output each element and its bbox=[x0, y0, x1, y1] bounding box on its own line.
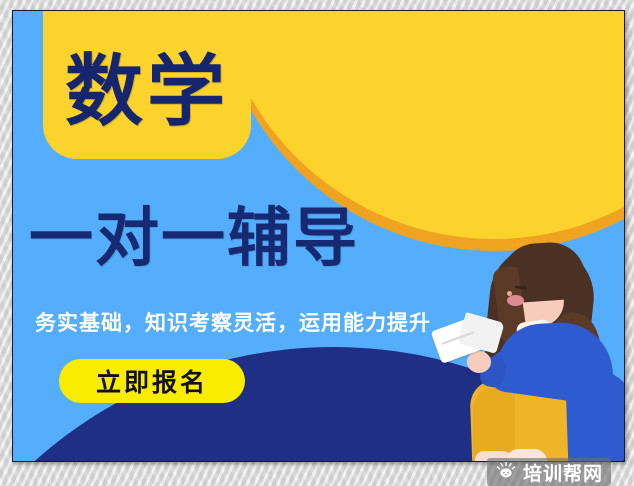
headline-text: 一对一辅导 bbox=[29, 207, 359, 271]
girl-reading-illustration bbox=[431, 239, 625, 462]
promo-banner-card: 数学 一对一辅导 务实基础，知识考察灵活，运用能力提升 立即报名 bbox=[12, 10, 625, 462]
cheek-blush bbox=[507, 295, 524, 306]
enroll-now-button[interactable]: 立即报名 bbox=[59, 359, 245, 403]
subheadline-text: 务实基础，知识考察灵活，运用能力提升 bbox=[35, 307, 431, 337]
site-watermark: 培训帮网 bbox=[487, 458, 611, 486]
subject-badge: 数学 bbox=[43, 10, 251, 159]
subject-badge-label: 数学 bbox=[65, 53, 229, 131]
enroll-now-button-label: 立即报名 bbox=[96, 363, 208, 399]
watermark-label: 培训帮网 bbox=[523, 459, 603, 486]
sun-face-icon bbox=[495, 462, 517, 482]
page-background: 数学 一对一辅导 务实基础，知识考察灵活，运用能力提升 立即报名 bbox=[0, 0, 634, 486]
nose-shape bbox=[507, 291, 512, 296]
hand-shape bbox=[467, 351, 491, 373]
